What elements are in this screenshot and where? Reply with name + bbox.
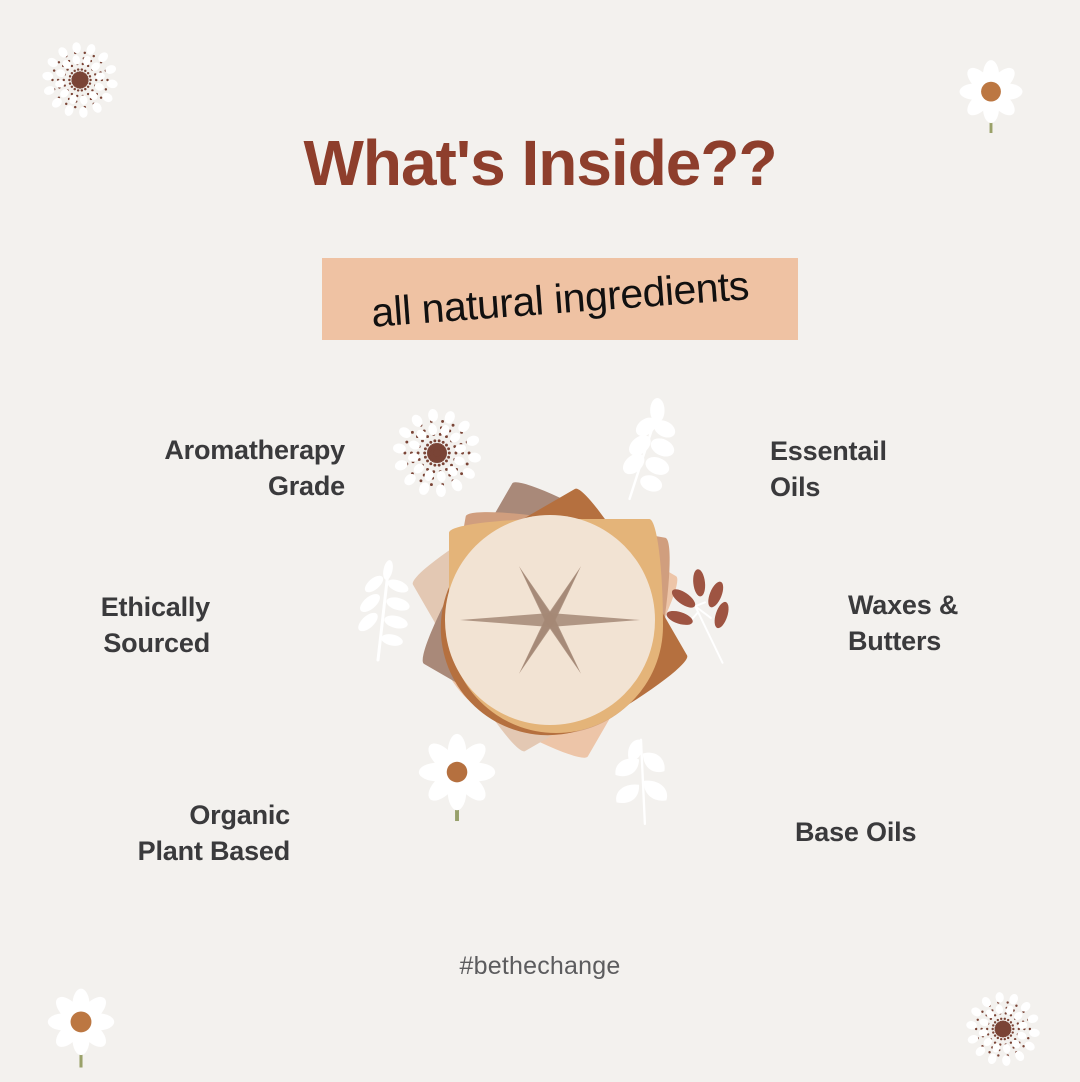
broad-leaf-branch-icon bbox=[585, 715, 695, 835]
label-base-oils: Base Oils bbox=[795, 815, 1045, 851]
label-organic-plant-based: Organic Plant Based bbox=[10, 798, 290, 870]
page-title: What's Inside?? bbox=[0, 131, 1080, 195]
leaf-sprig-icon bbox=[590, 390, 700, 510]
label-line-2: Oils bbox=[770, 470, 1060, 506]
label-waxes-and-butters: Waxes & Butters bbox=[848, 588, 1078, 660]
poster-canvas: What's Inside?? all natural ingredients bbox=[0, 0, 1080, 1080]
label-line-1: Base Oils bbox=[795, 815, 1045, 851]
hashtag: #bethechange bbox=[0, 952, 1080, 981]
dandelion-burst-icon bbox=[38, 38, 122, 122]
daisy-icon bbox=[398, 712, 518, 837]
label-essentail-oils: Essentail Oils bbox=[770, 434, 1060, 506]
ingredient-flower-diagram bbox=[290, 360, 810, 880]
label-aromatherapy-grade: Aromatherapy Grade bbox=[40, 433, 345, 505]
label-line-2: Sourced bbox=[10, 626, 210, 662]
olive-branch-icon bbox=[650, 555, 760, 675]
dandelion-burst-icon bbox=[962, 988, 1044, 1070]
label-line-1: Organic bbox=[10, 798, 290, 834]
dandelion-burst-icon bbox=[382, 398, 492, 508]
daisy-icon bbox=[42, 982, 120, 1077]
label-ethically-sourced: Ethically Sourced bbox=[10, 590, 210, 662]
label-line-1: Essentail bbox=[770, 434, 1060, 470]
six-point-sparkle-icon bbox=[450, 520, 650, 720]
label-line-1: Ethically bbox=[10, 590, 210, 626]
flower-core[interactable] bbox=[445, 515, 655, 725]
label-line-1: Waxes & bbox=[848, 588, 1078, 624]
daisy-icon bbox=[955, 52, 1027, 142]
label-line-2: Grade bbox=[40, 469, 345, 505]
label-line-1: Aromatherapy bbox=[40, 433, 345, 469]
label-line-2: Butters bbox=[848, 624, 1078, 660]
fern-sprig-icon bbox=[328, 550, 438, 670]
label-line-2: Plant Based bbox=[10, 834, 290, 870]
